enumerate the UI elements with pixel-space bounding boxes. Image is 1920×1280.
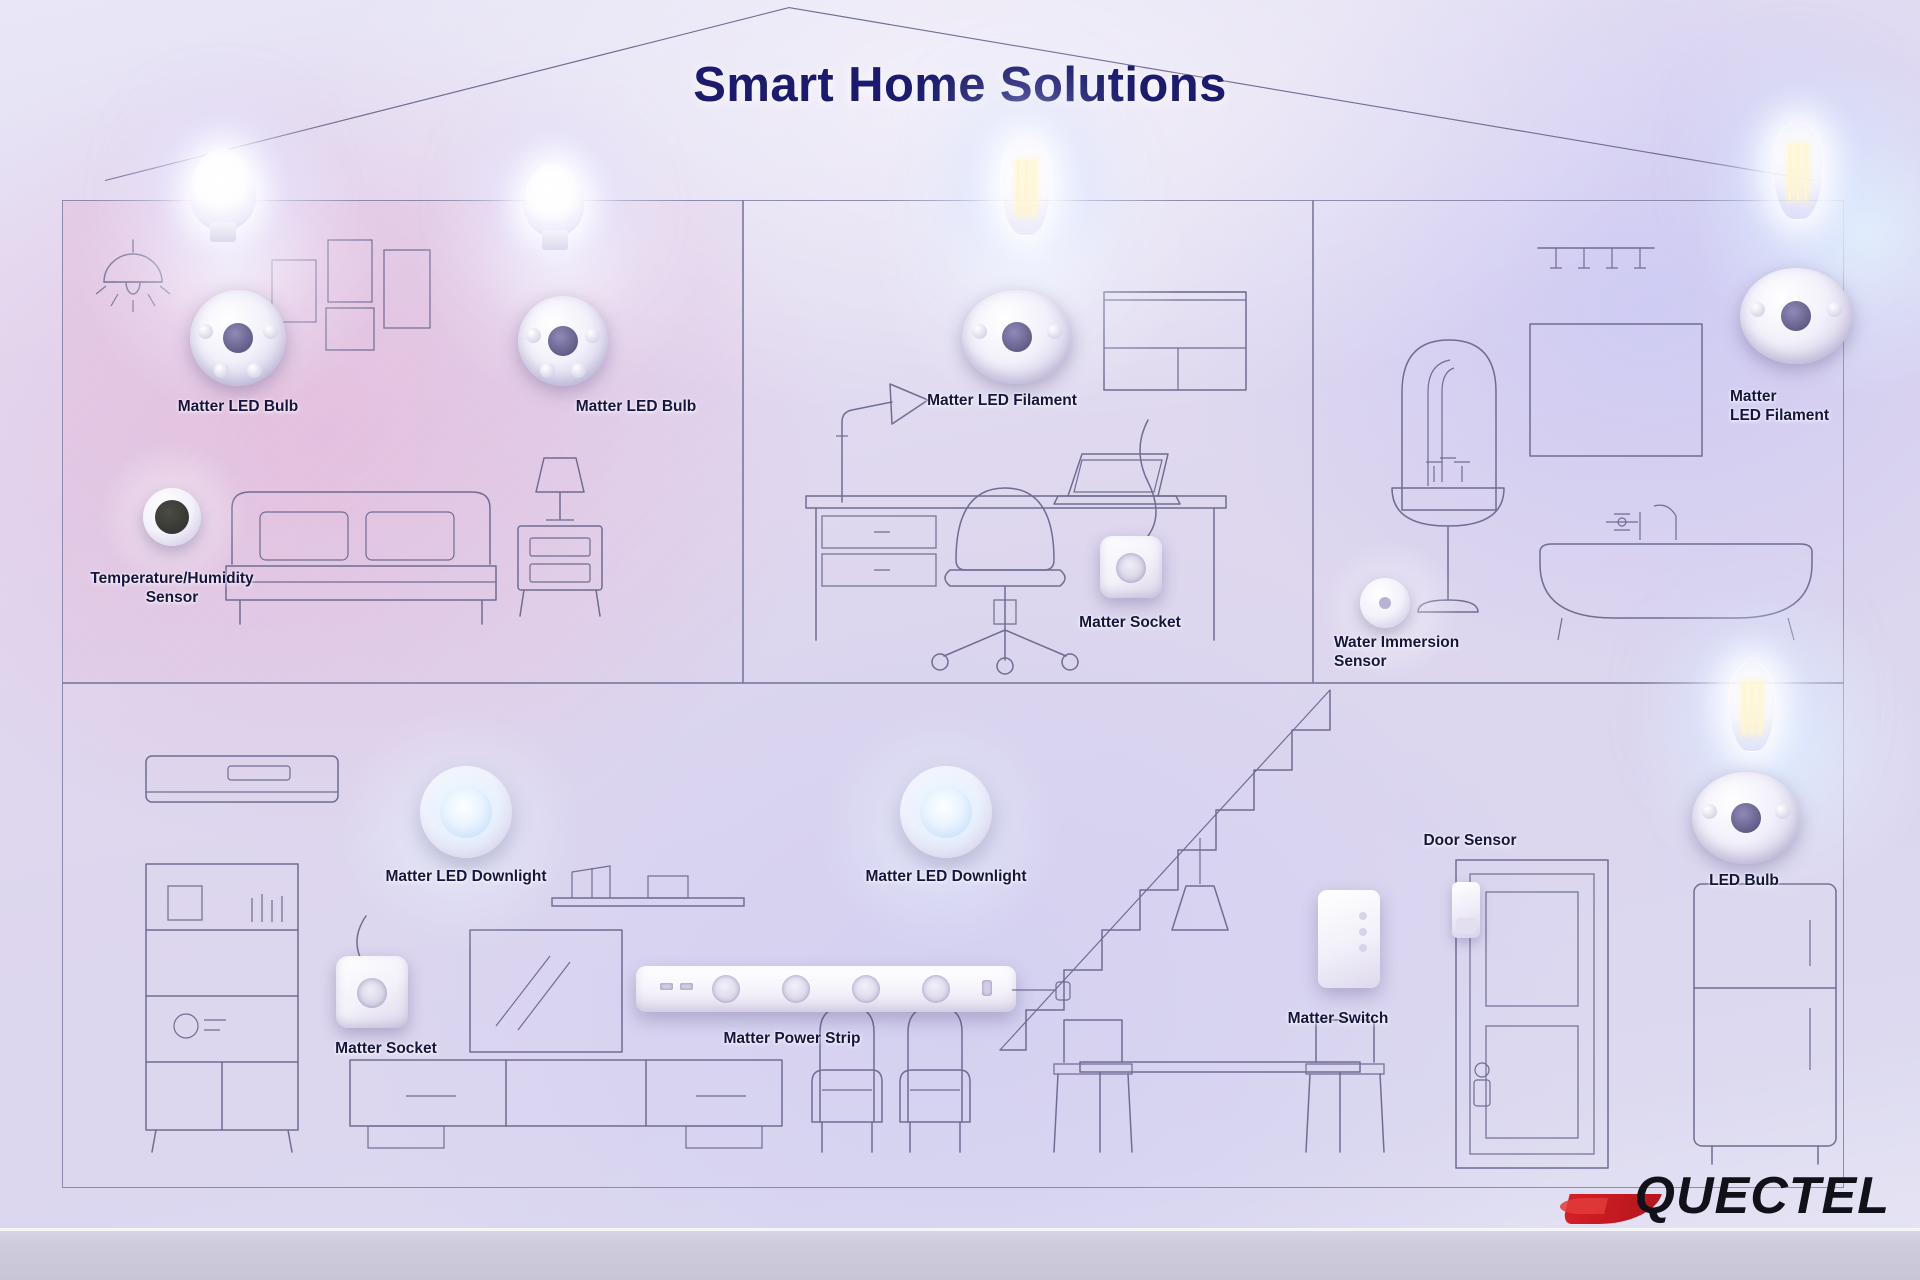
plate-nub	[571, 363, 586, 378]
socket-cable-office	[1118, 420, 1178, 540]
door-sensor[interactable]	[1452, 882, 1480, 938]
plate-nub	[585, 328, 600, 343]
tv-console-illustration	[346, 1056, 786, 1166]
dining-pendant-illustration	[1150, 838, 1250, 958]
usb-port	[680, 983, 693, 990]
nightstand-illustration	[500, 452, 620, 622]
water-immersion-sensor[interactable]	[1360, 578, 1410, 628]
plate-nub	[263, 324, 278, 339]
switch-indicator	[1359, 944, 1367, 952]
label-matter-led-filament-1: Matter LED Filament	[927, 392, 1077, 411]
switch-indicator	[1359, 928, 1367, 936]
wall-picture-frames	[272, 236, 432, 346]
plate-nub	[214, 363, 229, 378]
label-door-sensor: Door Sensor	[1423, 832, 1516, 851]
label-temperature-humidity-sensor: Temperature/Humidity Sensor	[90, 570, 253, 608]
plate-nub	[972, 324, 987, 339]
sconce-plate-filament-1	[962, 290, 1072, 384]
matter-socket-living[interactable]	[336, 956, 408, 1028]
label-matter-led-bulb-1: Matter LED Bulb	[178, 398, 299, 417]
plate-nub	[1047, 324, 1062, 339]
bathtub-illustration	[1536, 500, 1816, 650]
temperature-humidity-sensor[interactable]	[143, 488, 201, 546]
towel-rail-illustration	[1536, 242, 1656, 292]
plate-nub	[247, 363, 262, 378]
plate-nub	[198, 324, 213, 339]
power-strip-cord	[1012, 972, 1072, 1012]
outlet	[782, 975, 810, 1003]
usb-port	[660, 983, 673, 990]
refrigerator-illustration	[1690, 880, 1840, 1170]
label-matter-led-bulb-2: Matter LED Bulb	[576, 398, 697, 417]
door-sensor-magnet	[1456, 918, 1476, 934]
page-title: Smart Home Solutions	[0, 57, 1920, 113]
plate-nub	[1702, 804, 1717, 819]
label-matter-led-downlight-1: Matter LED Downlight	[385, 868, 546, 887]
matter-socket-office[interactable]	[1100, 536, 1162, 598]
label-led-bulb: LED Bulb	[1709, 872, 1779, 891]
label-matter-socket-living: Matter Socket	[335, 1040, 437, 1059]
smart-home-poster: Smart Home Solutions	[0, 0, 1920, 1280]
label-matter-led-filament-2: Matter LED Filament	[1730, 388, 1829, 426]
label-matter-socket-office: Matter Socket	[1079, 614, 1181, 633]
floor-strip	[0, 1228, 1920, 1280]
matter-led-downlight-2[interactable]	[900, 766, 992, 858]
matter-power-strip[interactable]	[636, 966, 1016, 1012]
logo-swoosh-accent-icon	[1558, 1198, 1608, 1214]
outlet	[712, 975, 740, 1003]
air-conditioner-illustration	[142, 752, 342, 812]
bathroom-wall-panel	[1526, 320, 1706, 460]
matter-switch[interactable]	[1318, 890, 1380, 988]
plate-nub	[1775, 804, 1790, 819]
bed-illustration	[226, 478, 496, 638]
outlet	[852, 975, 880, 1003]
power-indicator	[982, 980, 992, 996]
label-matter-led-downlight-2: Matter LED Downlight	[865, 868, 1026, 887]
pendant-lamp-icon	[88, 236, 178, 326]
armchairs-illustration	[808, 990, 988, 1170]
office-chair-illustration	[920, 474, 1090, 674]
sconce-plate-1	[190, 290, 286, 386]
label-water-immersion-sensor: Water Immersion Sensor	[1334, 634, 1459, 672]
plate-nub	[1750, 302, 1765, 317]
matter-led-downlight-1[interactable]	[420, 766, 512, 858]
sconce-plate-filament-2	[1740, 268, 1852, 364]
living-wall-art	[466, 926, 626, 1056]
switch-indicator	[1359, 912, 1367, 920]
label-matter-switch: Matter Switch	[1288, 1010, 1389, 1029]
quectel-logo: QUECTEL	[1560, 1164, 1890, 1222]
floating-shelf-illustration	[548, 846, 748, 916]
bookshelf-illustration	[142, 860, 302, 1160]
label-matter-power-strip: Matter Power Strip	[724, 1030, 861, 1049]
sconce-plate-2	[518, 296, 608, 386]
plate-nub	[526, 328, 541, 343]
outlet	[922, 975, 950, 1003]
plate-nub	[540, 363, 555, 378]
brand-name: QUECTEL	[1635, 1170, 1890, 1222]
sconce-plate-led-bulb	[1692, 772, 1800, 864]
plate-nub	[1827, 302, 1842, 317]
window-blinds-illustration	[1100, 288, 1250, 428]
